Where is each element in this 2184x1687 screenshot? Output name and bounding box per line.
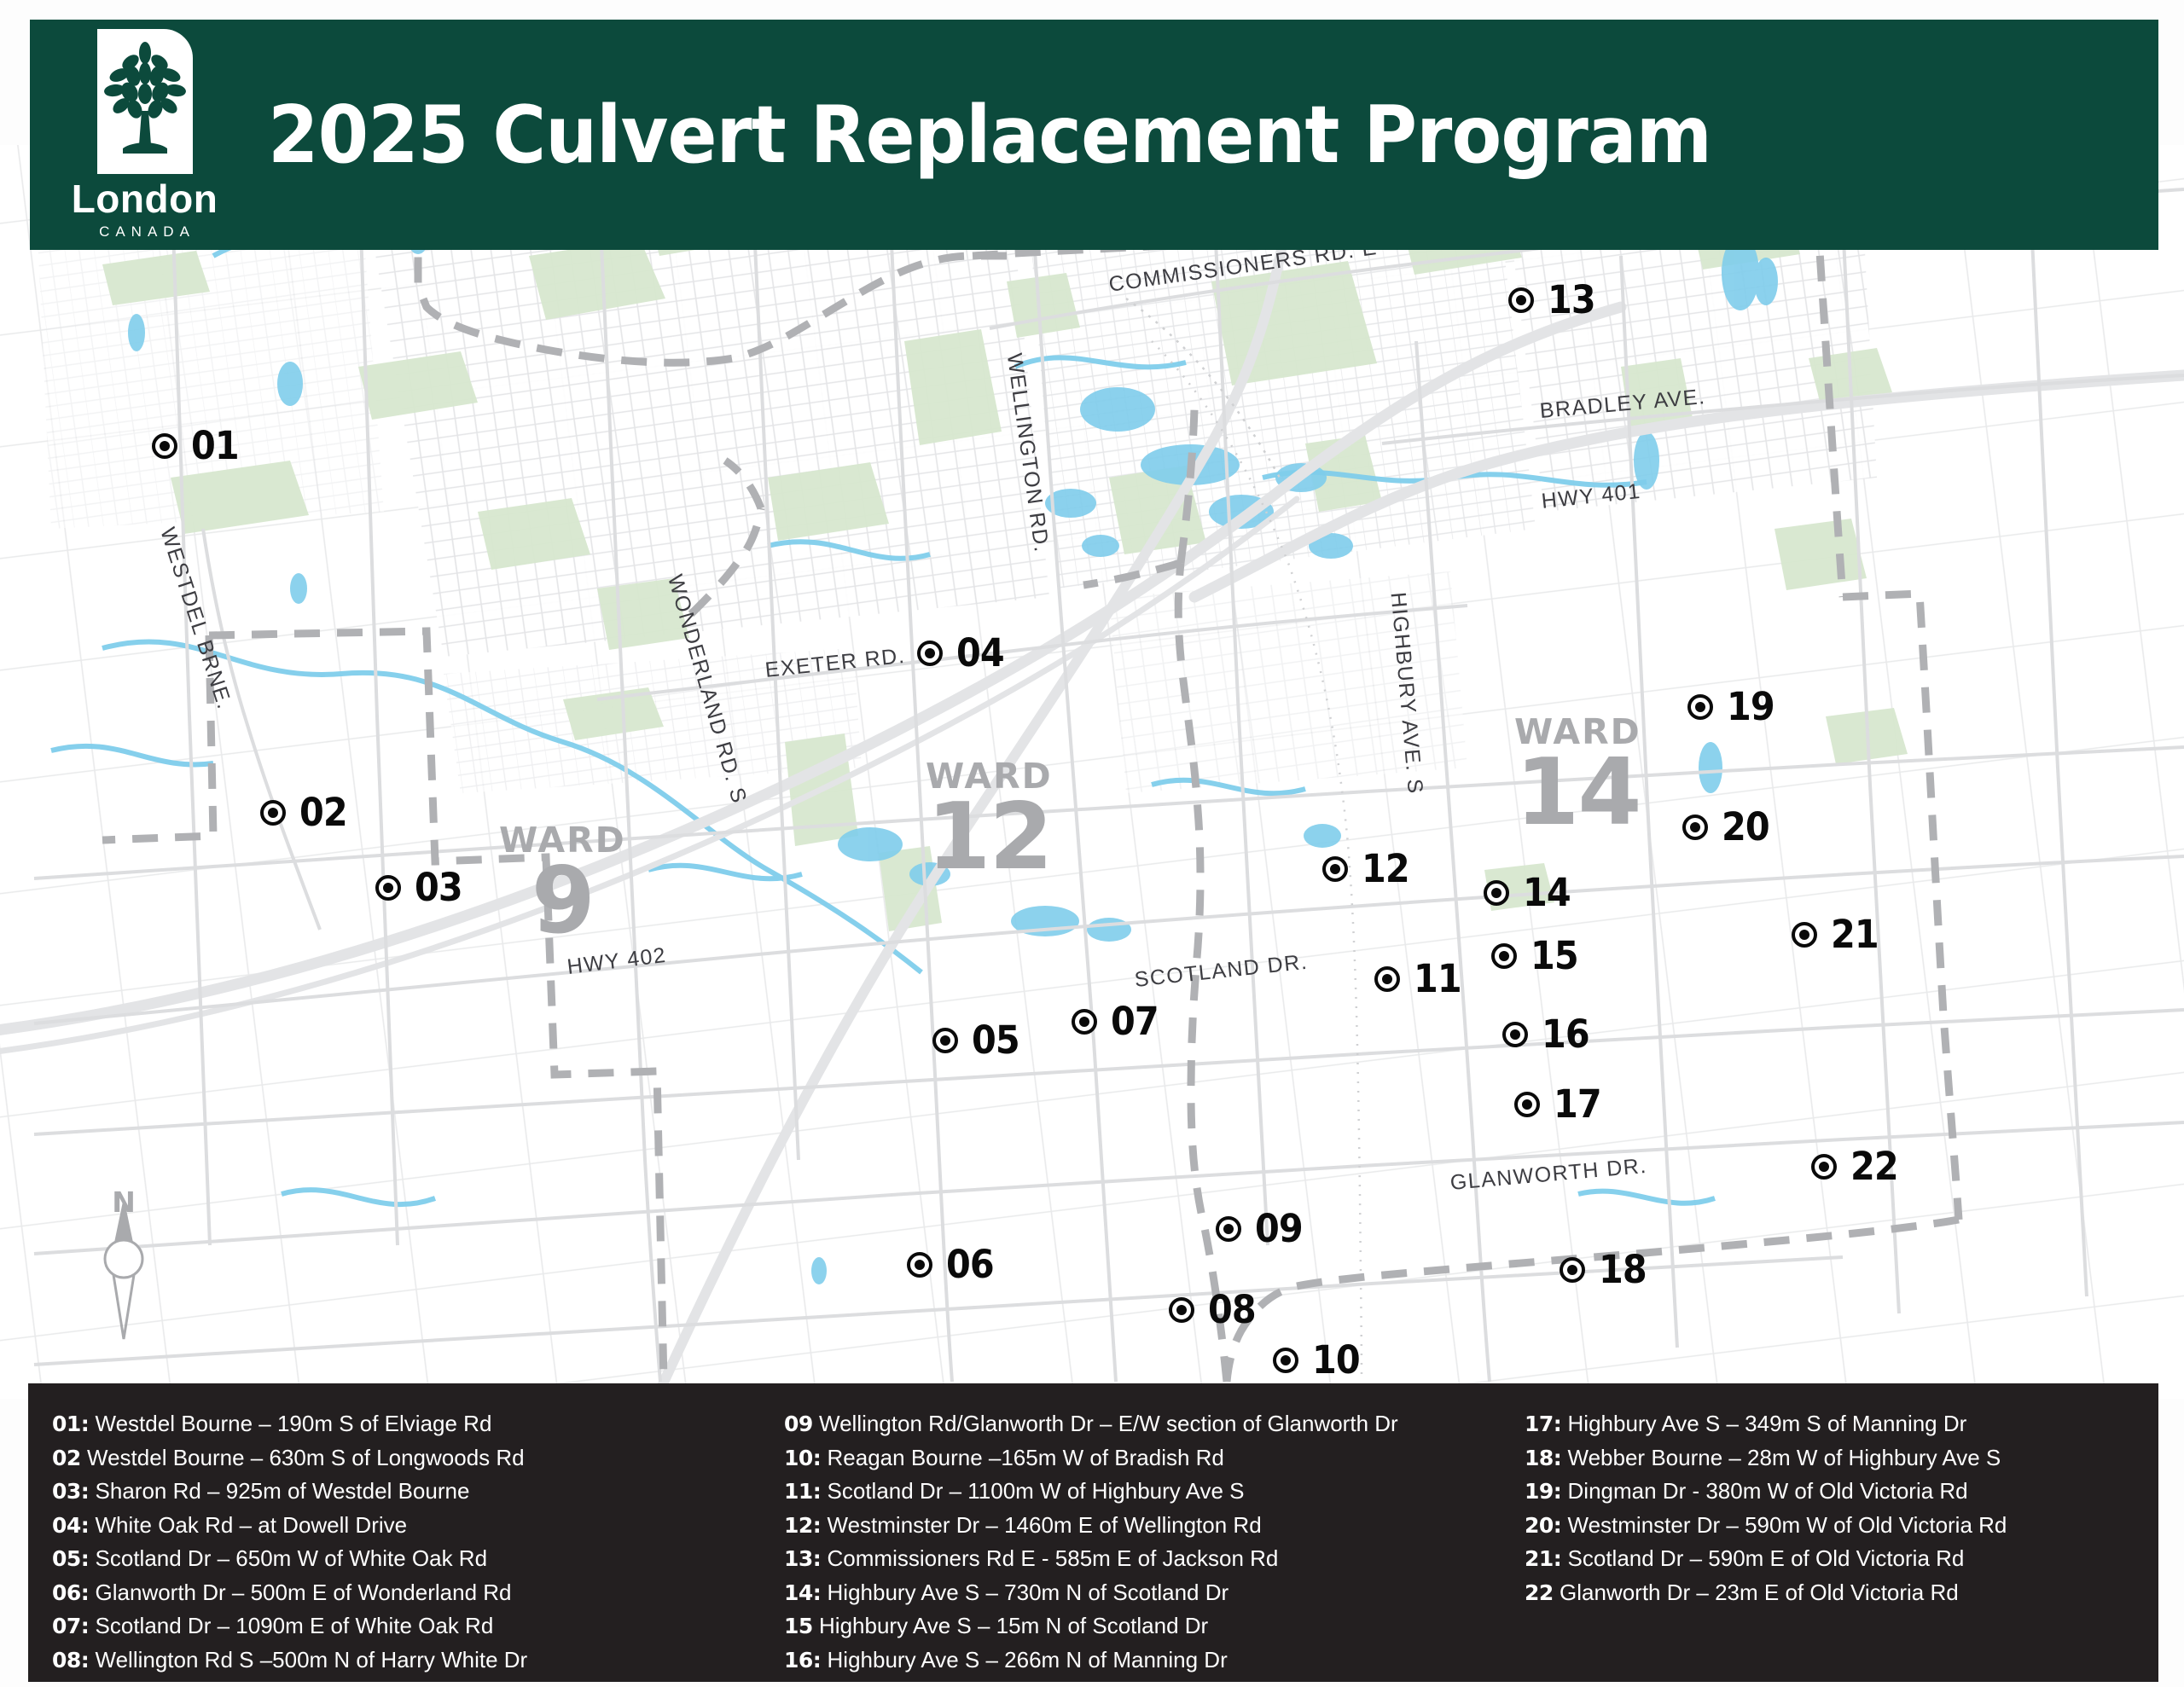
marker-pin-icon: [1484, 880, 1509, 906]
legend-item-number: 10:: [784, 1446, 821, 1470]
legend-item-text: Westdel Bourne – 630m S of Longwoods Rd: [81, 1445, 525, 1470]
marker-pin-icon: [260, 800, 286, 826]
legend-item-number: 21:: [1525, 1546, 1561, 1571]
legend-item: 16: Highbury Ave S – 266m N of Manning D…: [784, 1644, 1501, 1678]
map-marker-20[interactable]: 20: [1682, 808, 1774, 846]
marker-pin-icon: [1169, 1297, 1194, 1323]
map-marker-21[interactable]: 21: [1792, 915, 1883, 954]
marker-label: 05: [972, 1021, 1019, 1059]
marker-label: 16: [1542, 1015, 1589, 1053]
legend-item: 14: Highbury Ave S – 730m N of Scotland …: [784, 1576, 1501, 1610]
header-banner: London CANADA 2025 Culvert Replacement P…: [30, 20, 2158, 250]
legend-item-text: Scotland Dr – 590m E of Old Victoria Rd: [1561, 1545, 1964, 1571]
legend-item-text: Dingman Dr - 380m W of Old Victoria Rd: [1561, 1478, 1967, 1504]
page-title: 2025 Culvert Replacement Program: [268, 89, 1711, 181]
marker-label: 15: [1531, 936, 1578, 975]
legend-item-number: 03:: [52, 1479, 89, 1504]
legend-item: 08: Wellington Rd S –500m N of Harry Whi…: [52, 1644, 760, 1678]
logo-subtitle: CANADA: [99, 223, 195, 241]
marker-label: 14: [1523, 873, 1571, 912]
map-marker-08[interactable]: 08: [1169, 1290, 1260, 1329]
legend-item: 20: Westminster Dr – 590m W of Old Victo…: [1525, 1509, 2184, 1543]
legend-panel: 01: Westdel Bourne – 190m S of Elviage R…: [28, 1383, 2158, 1682]
marker-pin-icon: [1322, 856, 1348, 882]
map-marker-10[interactable]: 10: [1273, 1341, 1364, 1379]
legend-item: 10: Reagan Bourne –165m W of Bradish Rd: [784, 1441, 1501, 1475]
legend-item-number: 11:: [784, 1479, 821, 1504]
logo-wordmark: London: [72, 179, 218, 218]
legend-item-number: 13:: [784, 1546, 821, 1571]
legend-item: 22 Glanworth Dr – 23m E of Old Victoria …: [1525, 1576, 2184, 1610]
marker-label: 04: [956, 634, 1004, 672]
legend-item-number: 22: [1525, 1580, 1554, 1605]
map-marker-16[interactable]: 16: [1502, 1015, 1594, 1053]
legend-item: 01: Westdel Bourne – 190m S of Elviage R…: [52, 1407, 760, 1441]
legend-item: 09 Wellington Rd/Glanworth Dr – E/W sect…: [784, 1407, 1501, 1441]
legend-item-number: 16:: [784, 1648, 821, 1673]
marker-label: 08: [1208, 1290, 1256, 1329]
legend-item: 05: Scotland Dr – 650m W of White Oak Rd: [52, 1542, 760, 1576]
marker-pin-icon: [1508, 287, 1534, 313]
marker-label: 01: [191, 426, 239, 465]
legend-item: 15 Highbury Ave S – 15m N of Scotland Dr: [784, 1609, 1501, 1644]
map-marker-12[interactable]: 12: [1322, 849, 1414, 888]
marker-pin-icon: [375, 875, 401, 901]
legend-item-number: 05:: [52, 1546, 89, 1571]
marker-pin-icon: [917, 641, 943, 666]
marker-label: 12: [1362, 849, 1409, 888]
legend-item: 17: Highbury Ave S – 349m S of Manning D…: [1525, 1407, 2184, 1441]
marker-pin-icon: [1687, 694, 1713, 720]
legend-item: 19: Dingman Dr - 380m W of Old Victoria …: [1525, 1475, 2184, 1509]
map-marker-04[interactable]: 04: [917, 634, 1008, 672]
legend-item: 06: Glanworth Dr – 500m E of Wonderland …: [52, 1576, 760, 1610]
legend-item: 21: Scotland Dr – 590m E of Old Victoria…: [1525, 1542, 2184, 1576]
map-marker-17[interactable]: 17: [1514, 1085, 1606, 1123]
legend-item-text: Reagan Bourne –165m W of Bradish Rd: [821, 1445, 1224, 1470]
map-marker-09[interactable]: 09: [1216, 1209, 1307, 1248]
legend-item-text: Sharon Rd – 925m of Westdel Bourne: [89, 1478, 469, 1504]
legend-item-number: 18:: [1525, 1446, 1561, 1470]
legend-item-number: 20:: [1525, 1513, 1561, 1538]
map-marker-14[interactable]: 14: [1484, 873, 1575, 912]
marker-label: 07: [1111, 1002, 1159, 1041]
map-marker-19[interactable]: 19: [1687, 687, 1779, 726]
legend-item-text: Highbury Ave S – 266m N of Manning Dr: [821, 1647, 1227, 1673]
legend-item-number: 09: [784, 1412, 813, 1436]
marker-pin-icon: [1491, 943, 1517, 969]
legend-column-1: 01: Westdel Bourne – 190m S of Elviage R…: [28, 1407, 760, 1682]
legend-item-text: Highbury Ave S – 15m N of Scotland Dr: [813, 1613, 1208, 1638]
legend-item-number: 04:: [52, 1513, 89, 1538]
marker-pin-icon: [907, 1252, 932, 1278]
legend-item-text: Scotland Dr – 1100m W of Highbury Ave S: [821, 1478, 1244, 1504]
marker-pin-icon: [1216, 1216, 1241, 1242]
legend-item-text: Glanworth Dr – 500m E of Wonderland Rd: [89, 1580, 511, 1605]
map-marker-07[interactable]: 07: [1072, 1002, 1163, 1041]
legend-item-number: 07:: [52, 1614, 89, 1638]
legend-item-text: White Oak Rd – at Dowell Drive: [89, 1512, 407, 1538]
legend-item: 11: Scotland Dr – 1100m W of Highbury Av…: [784, 1475, 1501, 1509]
marker-pin-icon: [152, 433, 177, 459]
map-marker-11[interactable]: 11: [1374, 959, 1466, 998]
legend-item-text: Westminster Dr – 590m W of Old Victoria …: [1561, 1512, 2007, 1538]
compass-north-label: N: [85, 1188, 162, 1216]
marker-label: 17: [1554, 1085, 1601, 1123]
map-marker-03[interactable]: 03: [375, 868, 467, 907]
tree-icon: [104, 38, 186, 165]
legend-item-number: 01:: [52, 1412, 89, 1436]
marker-pin-icon: [1374, 966, 1400, 992]
legend-item-number: 02: [52, 1446, 81, 1470]
legend-item-text: Highbury Ave S – 730m N of Scotland Dr: [821, 1580, 1228, 1605]
marker-pin-icon: [1792, 922, 1817, 948]
marker-label: 19: [1727, 687, 1774, 726]
marker-label: 06: [946, 1245, 994, 1284]
marker-label: 11: [1414, 959, 1461, 998]
legend-item-text: Scotland Dr – 1090m E of White Oak Rd: [89, 1613, 493, 1638]
legend-item-number: 06:: [52, 1580, 89, 1605]
marker-pin-icon: [1502, 1022, 1528, 1047]
legend-column-3: 17: Highbury Ave S – 349m S of Manning D…: [1501, 1407, 2184, 1682]
marker-label: 10: [1312, 1341, 1360, 1379]
legend-item-text: Wellington Rd/Glanworth Dr – E/W section…: [813, 1411, 1398, 1436]
legend-item-text: Glanworth Dr – 23m E of Old Victoria Rd: [1554, 1580, 1959, 1605]
map-marker-22[interactable]: 22: [1811, 1147, 1902, 1186]
legend-item: 02 Westdel Bourne – 630m S of Longwoods …: [52, 1441, 760, 1475]
legend-item: 18: Webber Bourne – 28m W of Highbury Av…: [1525, 1441, 2184, 1475]
map-marker-01[interactable]: 01: [152, 426, 243, 465]
legend-item: 07: Scotland Dr – 1090m E of White Oak R…: [52, 1609, 760, 1644]
city-logo: London CANADA: [66, 29, 224, 241]
map-marker-15[interactable]: 15: [1491, 936, 1583, 975]
legend-item-number: 12:: [784, 1513, 821, 1538]
marker-pin-icon: [1072, 1009, 1097, 1035]
legend-item-number: 17:: [1525, 1412, 1561, 1436]
marker-pin-icon: [932, 1028, 958, 1053]
map-marker-05[interactable]: 05: [932, 1021, 1024, 1059]
map-marker-02[interactable]: 02: [260, 793, 351, 832]
legend-item: 03: Sharon Rd – 925m of Westdel Bourne: [52, 1475, 760, 1509]
legend-item-number: 19:: [1525, 1479, 1561, 1504]
marker-pin-icon: [1682, 815, 1708, 840]
map-marker-13[interactable]: 13: [1508, 281, 1600, 319]
marker-pin-icon: [1514, 1092, 1540, 1117]
legend-item-number: 14:: [784, 1580, 821, 1605]
map-marker-18[interactable]: 18: [1560, 1250, 1651, 1289]
legend-item-text: Highbury Ave S – 349m S of Manning Dr: [1561, 1411, 1966, 1436]
map-marker-06[interactable]: 06: [907, 1245, 998, 1284]
legend-item-text: Webber Bourne – 28m W of Highbury Ave S: [1561, 1445, 2001, 1470]
marker-pin-icon: [1811, 1154, 1837, 1180]
legend-item-text: Wellington Rd S –500m N of Harry White D…: [89, 1647, 527, 1673]
marker-label: 03: [415, 868, 462, 907]
marker-label: 18: [1599, 1250, 1647, 1289]
marker-label: 02: [299, 793, 347, 832]
legend-item-number: 08:: [52, 1648, 89, 1673]
marker-label: 13: [1548, 281, 1595, 319]
legend-item: 13: Commissioners Rd E - 585m E of Jacks…: [784, 1542, 1501, 1576]
legend-item: 04: White Oak Rd – at Dowell Drive: [52, 1509, 760, 1543]
marker-label: 22: [1850, 1147, 1898, 1186]
logo-tile: [97, 29, 193, 174]
legend-item-text: Westdel Bourne – 190m S of Elviage Rd: [89, 1411, 491, 1436]
marker-pin-icon: [1273, 1348, 1298, 1373]
legend-item-text: Scotland Dr – 650m W of White Oak Rd: [89, 1545, 487, 1571]
marker-label: 20: [1722, 808, 1769, 846]
legend-item: 12: Westminster Dr – 1460m E of Wellingt…: [784, 1509, 1501, 1543]
legend-item-text: Commissioners Rd E - 585m E of Jackson R…: [821, 1545, 1278, 1571]
marker-label: 09: [1255, 1209, 1303, 1248]
marker-pin-icon: [1560, 1257, 1585, 1283]
compass: N: [85, 1188, 162, 1354]
legend-column-2: 09 Wellington Rd/Glanworth Dr – E/W sect…: [760, 1407, 1501, 1682]
legend-item-number: 15: [784, 1614, 813, 1638]
marker-label: 21: [1831, 915, 1879, 954]
legend-item-text: Westminster Dr – 1460m E of Wellington R…: [821, 1512, 1261, 1538]
